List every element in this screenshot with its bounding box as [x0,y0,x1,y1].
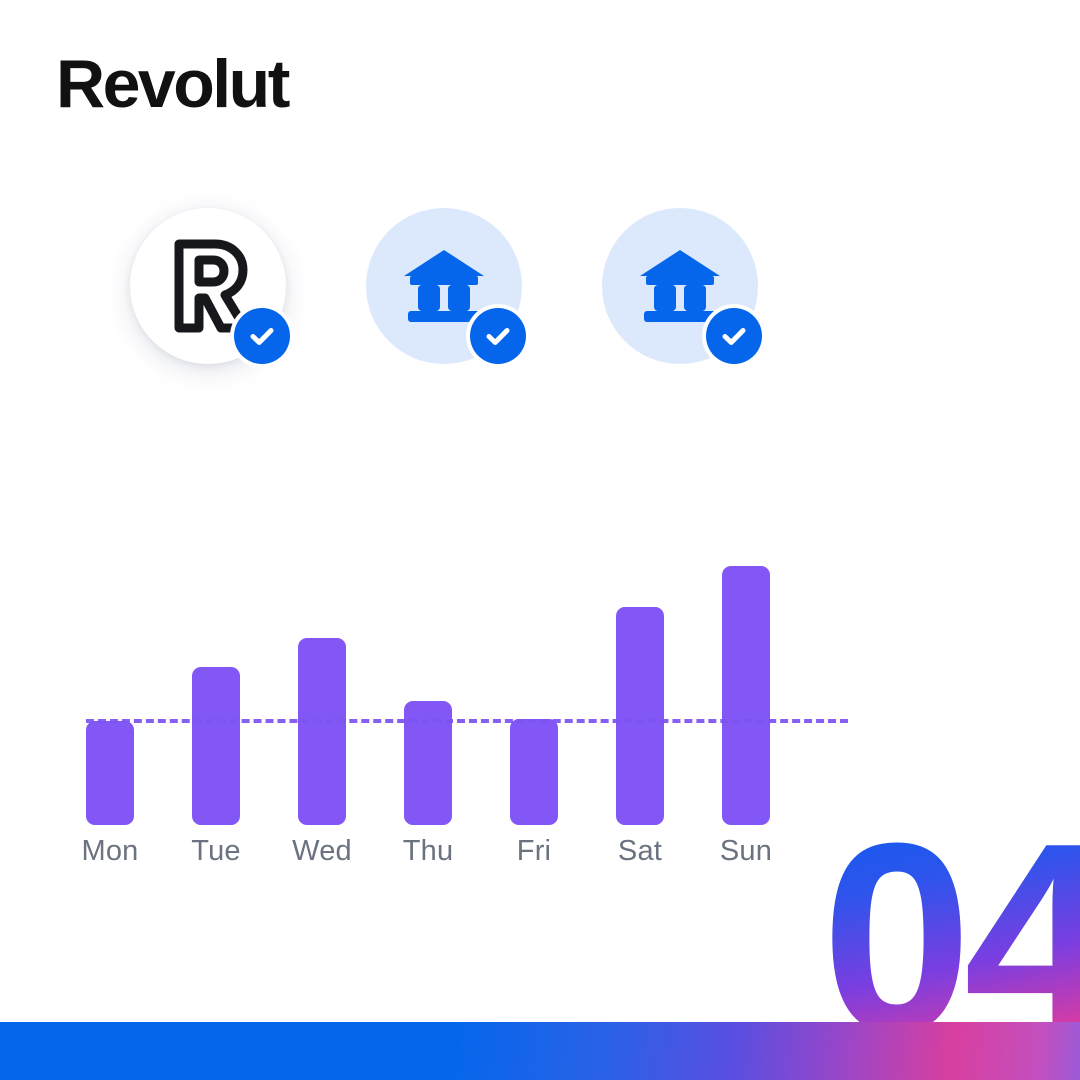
revolut-wordmark: Revolut [56,50,288,118]
bar-sun[interactable] [722,566,770,825]
account-badge-revolut[interactable] [130,208,286,364]
bank-icon [638,248,722,324]
account-badge-bank-1[interactable] [366,208,522,364]
check-icon [470,308,526,364]
chart-plot-area [86,540,826,825]
check-icon [706,308,762,364]
axis-label-mon: Mon [55,835,165,868]
bar-sat[interactable] [616,607,664,825]
axis-label-thu: Thu [373,835,483,868]
chart-bars [86,540,826,825]
chart-x-axis-labels: MonTueWedThuFriSatSun [86,835,826,875]
bar-mon[interactable] [86,721,134,825]
axis-label-tue: Tue [161,835,271,868]
verified-badge [466,304,530,368]
slide-canvas: Revolut [0,0,1080,1080]
linked-accounts-row [130,208,758,364]
account-badge-bank-2[interactable] [602,208,758,364]
axis-label-fri: Fri [479,835,589,868]
bar-fri[interactable] [510,719,558,825]
check-icon [234,308,290,364]
verified-badge [230,304,294,368]
average-reference-line [86,719,848,723]
axis-label-wed: Wed [267,835,377,868]
axis-label-sun: Sun [691,835,801,868]
bar-tue[interactable] [192,667,240,825]
weekly-activity-chart: MonTueWedThuFriSatSun [86,540,826,890]
bar-wed[interactable] [298,638,346,825]
bank-icon [402,248,486,324]
axis-label-sat: Sat [585,835,695,868]
footer-gradient-bar [0,1022,1080,1080]
verified-badge [702,304,766,368]
